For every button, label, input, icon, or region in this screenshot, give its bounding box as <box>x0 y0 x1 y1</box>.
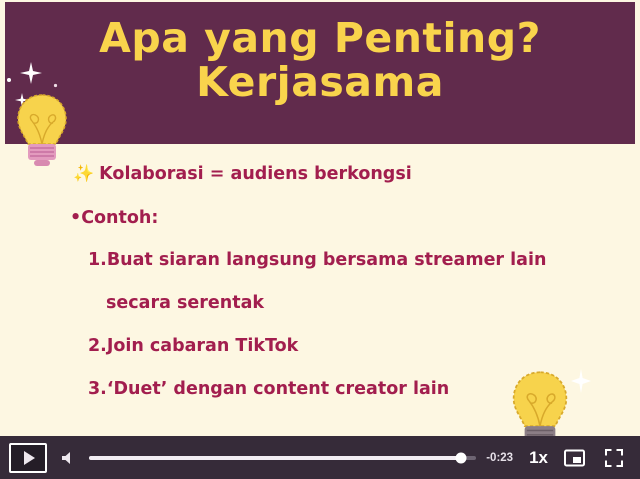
list-item-3: 3.‘Duet’ dengan content creator lain <box>88 379 449 399</box>
fullscreen-button[interactable] <box>600 443 628 473</box>
sparkle-icon <box>18 60 44 86</box>
title-line-1: Apa yang Penting? <box>5 16 635 60</box>
list-number: 2. <box>88 336 107 356</box>
bullet-item-contoh: •Contoh: <box>70 208 158 228</box>
play-icon <box>24 451 35 465</box>
time-remaining: -0:23 <box>486 452 513 464</box>
bullet-text: Contoh: <box>81 208 158 228</box>
sparkle-icon <box>604 400 613 409</box>
list-item-1-continued: secara serentak <box>106 293 264 313</box>
bullet-marker: • <box>70 208 81 228</box>
play-button[interactable] <box>9 443 47 473</box>
slide-canvas: Apa yang Penting? Kerjasama <box>0 0 640 436</box>
playback-speed-button[interactable]: 1x <box>529 448 548 468</box>
seek-bar[interactable] <box>89 443 476 473</box>
mute-icon <box>59 450 77 466</box>
list-text: Join cabaran TikTok <box>107 336 298 356</box>
slide-title: Apa yang Penting? Kerjasama <box>5 16 635 105</box>
list-text: ‘Duet’ dengan content creator lain <box>107 379 449 399</box>
fullscreen-icon <box>605 449 623 467</box>
video-player: Apa yang Penting? Kerjasama <box>0 0 640 479</box>
list-number: 1. <box>88 250 107 270</box>
title-line-2: Kerjasama <box>5 60 635 104</box>
slide-header-band: Apa yang Penting? Kerjasama <box>5 2 635 144</box>
picture-in-picture-button[interactable] <box>560 443 588 473</box>
sparkle-icon <box>5 76 13 84</box>
bullet-text: Kolaborasi = audiens berkongsi <box>99 164 412 184</box>
list-item-1: 1.Buat siaran langsung bersama streamer … <box>88 250 546 270</box>
seek-handle[interactable] <box>455 452 466 463</box>
sparkle-icon <box>52 82 59 89</box>
player-controls: -0:23 1x <box>0 436 640 479</box>
lightbulb-icon <box>509 369 571 436</box>
sparkle-icon: ✨ <box>73 164 94 184</box>
bullet-item-sparkle: ✨Kolaborasi = audiens berkongsi <box>73 164 412 184</box>
seek-progress <box>89 456 461 460</box>
seek-track[interactable] <box>89 456 476 460</box>
volume-button[interactable] <box>55 443 81 473</box>
list-text: Buat siaran langsung bersama streamer la… <box>107 250 547 270</box>
lightbulb-icon <box>14 92 70 174</box>
list-number: 3. <box>88 379 107 399</box>
sparkle-icon <box>570 368 592 394</box>
picture-in-picture-icon <box>564 449 585 467</box>
list-item-2: 2.Join cabaran TikTok <box>88 336 298 356</box>
